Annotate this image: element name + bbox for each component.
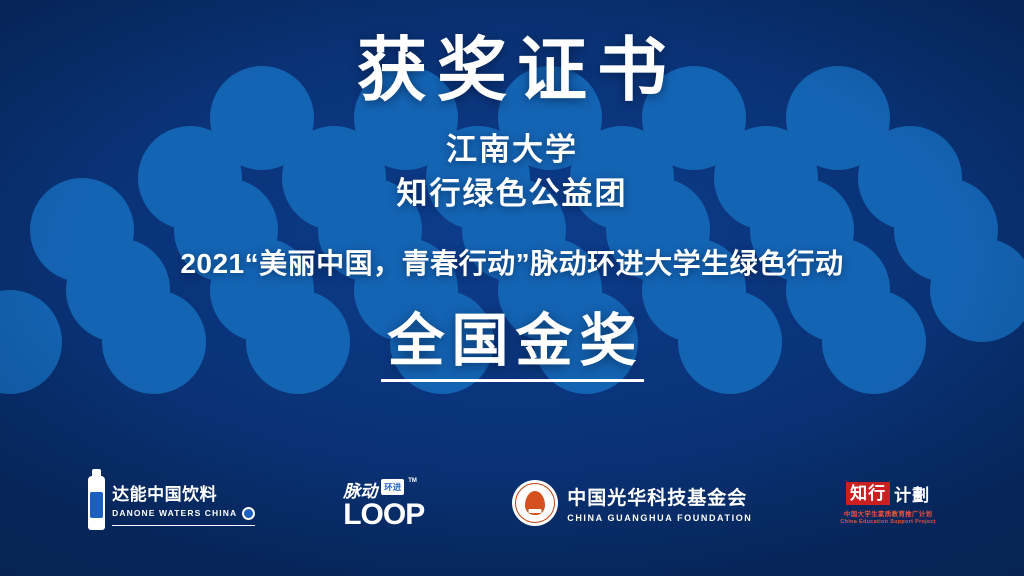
mizone-badge-cn: 环进 bbox=[381, 479, 404, 495]
zhixing-subtitle-cn: 中国大学生素质教育推广计划 bbox=[844, 508, 932, 518]
certificate-title: 获奖证书 bbox=[347, 34, 677, 108]
guanghua-text-block: 中国光华科技基金会 CHINA GUANGHUA FOUNDATION bbox=[567, 483, 752, 523]
sponsor-logo-mizone-loop: 脉动 环进 TM LOOP bbox=[343, 477, 424, 530]
danone-text-block: 达能中国饮料 DANONE WATERS CHINA bbox=[112, 480, 255, 527]
sponsor-logo-bar: 达能中国饮料 DANONE WATERS CHINA 脉动 环进 TM LOOP bbox=[0, 472, 1024, 534]
mizone-loop-wordmark: LOOP bbox=[343, 500, 424, 530]
flame-icon bbox=[525, 491, 545, 515]
recipient-team: 知行绿色公益团 bbox=[397, 172, 628, 216]
danone-name-cn: 达能中国饮料 bbox=[112, 480, 255, 505]
zhixing-name-boxed: 知行 bbox=[846, 482, 890, 506]
bottle-label-icon bbox=[90, 492, 103, 518]
program-line: 2021“美丽中国，青春行动”脉动环进大学生绿色行动 bbox=[180, 242, 843, 282]
award-block: 全国金奖 bbox=[381, 310, 644, 383]
sponsor-logo-zhixing: 知行 计劃 中国大学生素质教育推广计划 China Education Supp… bbox=[840, 481, 935, 525]
award-level: 全国金奖 bbox=[381, 310, 644, 383]
zhixing-subtitle-block: 中国大学生素质教育推广计划 China Education Support Pr… bbox=[840, 508, 935, 525]
guanghua-name-cn: 中国光华科技基金会 bbox=[567, 483, 752, 510]
zhixing-subtitle-en: China Education Support Project bbox=[840, 519, 935, 525]
danone-divider bbox=[112, 525, 255, 527]
guanghua-name-en: CHINA GUANGHUA FOUNDATION bbox=[567, 513, 752, 523]
sponsor-logo-guanghua: 中国光华科技基金会 CHINA GUANGHUA FOUNDATION bbox=[512, 480, 752, 526]
recipient-organization: 江南大学 bbox=[397, 128, 628, 172]
zhixing-name-plain: 计劃 bbox=[894, 481, 930, 506]
danone-name-en: DANONE WATERS CHINA bbox=[112, 508, 237, 518]
danone-en-row: DANONE WATERS CHINA bbox=[112, 507, 255, 520]
trademark-icon: TM bbox=[408, 478, 417, 484]
sponsor-logo-danone: 达能中国饮料 DANONE WATERS CHINA bbox=[88, 476, 255, 530]
globe-icon bbox=[242, 507, 255, 520]
flame-emblem-icon bbox=[512, 480, 558, 526]
recipient-block: 江南大学 知行绿色公益团 bbox=[397, 128, 628, 216]
water-bottle-icon bbox=[88, 476, 105, 530]
certificate-slide: 获奖证书 江南大学 知行绿色公益团 2021“美丽中国，青春行动”脉动环进大学生… bbox=[0, 0, 1024, 576]
zhixing-top-row: 知行 计劃 bbox=[846, 481, 930, 506]
